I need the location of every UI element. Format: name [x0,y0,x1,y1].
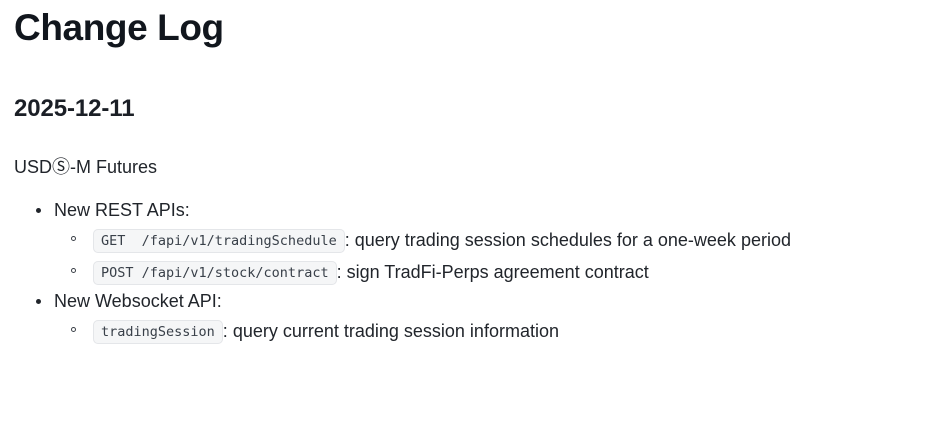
changelog-entry-list: tradingSession: query current trading se… [54,314,936,347]
date-heading: 2025-12-11 [14,49,936,124]
list-item: POST /fapi/v1/stock/contract: sign TradF… [54,257,936,288]
list-item: tradingSession: query current trading se… [54,316,936,347]
circle-bullet-icon [71,327,76,332]
product-section-label: USDⓈ-M Futures [14,123,936,179]
endpoint-code-chip[interactable]: GET /fapi/v1/tradingSchedule [93,229,345,253]
stream-code-chip[interactable]: tradingSession [93,320,223,344]
changelog-group-list: New REST APIs: GET /fapi/v1/tradingSched… [14,180,936,347]
page-title: Change Log [14,0,936,49]
entry-text: tradingSession: query current trading se… [93,316,936,347]
entry-description: query current trading session informatio… [228,321,559,341]
entry-description: sign TradFi-Perps agreement contract [342,262,649,282]
entry-description: query trading session schedules for a on… [350,230,791,250]
circle-bullet-icon [71,236,76,241]
disc-bullet-icon [36,299,41,304]
entry-text: POST /fapi/v1/stock/contract: sign TradF… [93,257,936,288]
changelog-group: New Websocket API: tradingSession: query… [14,289,936,347]
entry-text: GET /fapi/v1/tradingSchedule: query trad… [93,225,936,256]
group-label: New Websocket API: [54,289,936,314]
changelog-entry-list: GET /fapi/v1/tradingSchedule: query trad… [54,223,936,288]
disc-bullet-icon [36,208,41,213]
circle-bullet-icon [71,268,76,273]
changelog-group: New REST APIs: GET /fapi/v1/tradingSched… [14,198,936,288]
group-label: New REST APIs: [54,198,936,223]
list-item: GET /fapi/v1/tradingSchedule: query trad… [54,225,936,256]
changelog-page: Change Log 2025-12-11 USDⓈ-M Futures New… [0,0,950,347]
endpoint-code-chip[interactable]: POST /fapi/v1/stock/contract [93,261,337,285]
